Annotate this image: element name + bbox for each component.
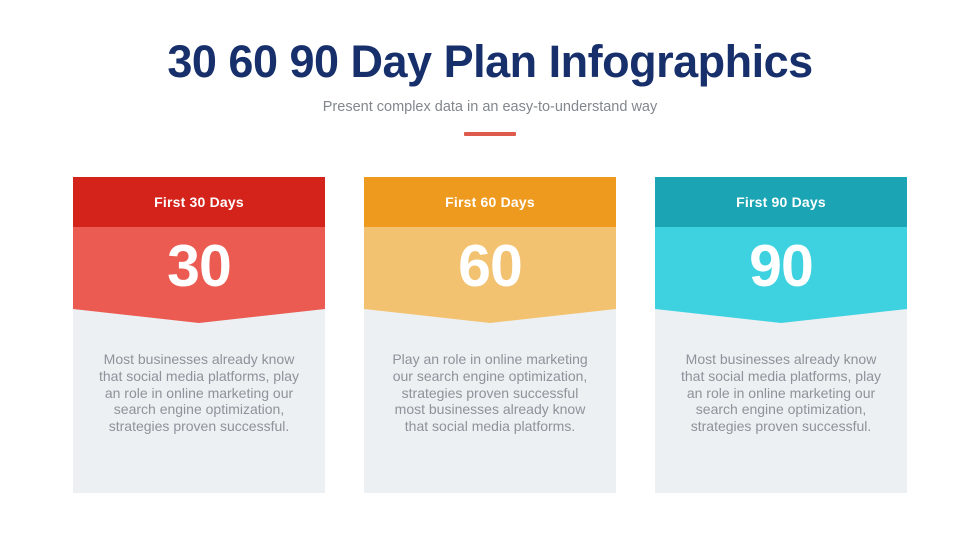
card-body-30: Most businesses already know that social…: [73, 323, 325, 435]
card-header-30: First 30 Days: [73, 177, 325, 227]
card-body-text-30: Most businesses already know that social…: [95, 351, 303, 435]
page-subtitle: Present complex data in an easy-to-under…: [0, 97, 980, 117]
plan-card-30[interactable]: First 30 Days 30 Most businesses already…: [73, 177, 325, 493]
card-body-text-90: Most businesses already know that social…: [677, 351, 885, 435]
slide-header: 30 60 90 Day Plan Infographics Present c…: [0, 36, 980, 136]
page-title: 30 60 90 Day Plan Infographics: [0, 36, 980, 88]
card-chevron-90: [655, 227, 907, 323]
card-body-60: Play an role in online marketing our sea…: [364, 323, 616, 435]
card-header-label-60: First 60 Days: [445, 194, 535, 210]
accent-divider: [464, 132, 516, 136]
card-chevron-60: [364, 227, 616, 323]
card-header-90: First 90 Days: [655, 177, 907, 227]
infographic-slide: 30 60 90 Day Plan Infographics Present c…: [0, 0, 980, 551]
plan-card-60[interactable]: First 60 Days 60 Play an role in online …: [364, 177, 616, 493]
card-header-label-30: First 30 Days: [154, 194, 244, 210]
card-body-text-60: Play an role in online marketing our sea…: [386, 351, 594, 435]
chevron-shape-60: [364, 227, 616, 323]
card-body-90: Most businesses already know that social…: [655, 323, 907, 435]
plan-card-90[interactable]: First 90 Days 90 Most businesses already…: [655, 177, 907, 493]
card-header-60: First 60 Days: [364, 177, 616, 227]
chevron-shape-30: [73, 227, 325, 323]
card-header-label-90: First 90 Days: [736, 194, 826, 210]
cards-row: First 30 Days 30 Most businesses already…: [73, 177, 907, 493]
chevron-shape-90: [655, 227, 907, 323]
card-chevron-30: [73, 227, 325, 323]
